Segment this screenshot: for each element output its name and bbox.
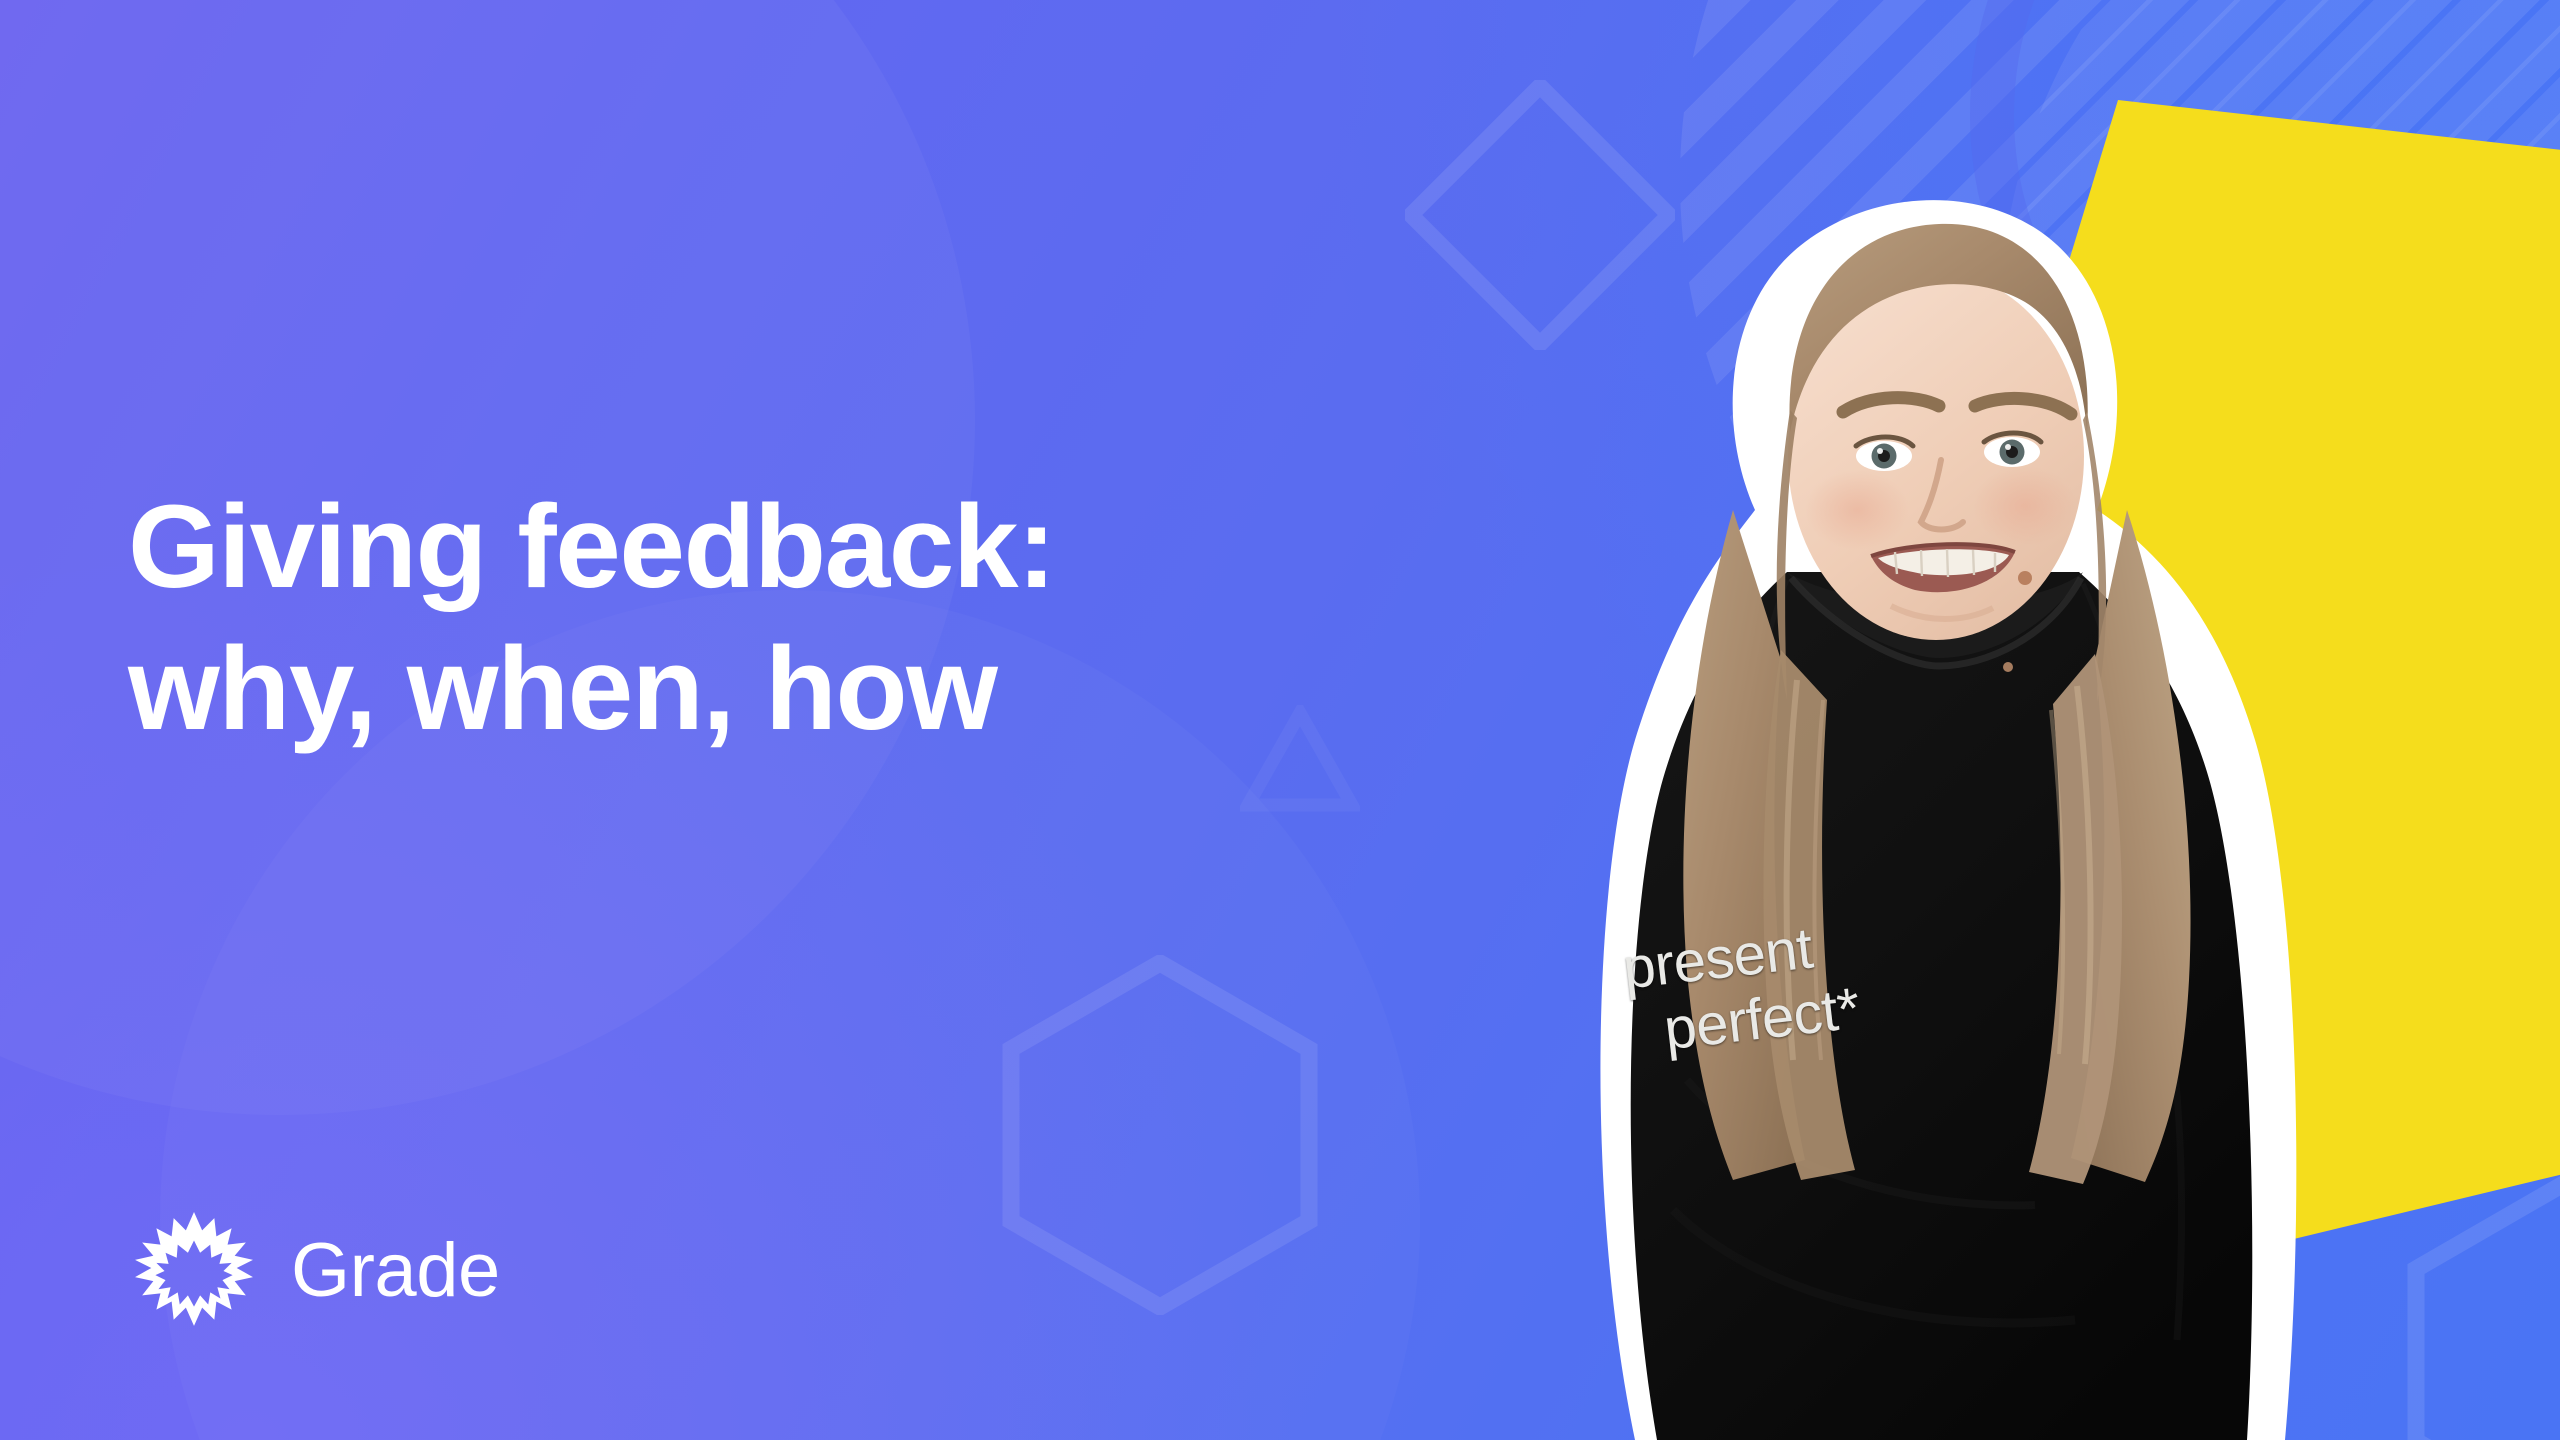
slide-canvas: present perfect* Giving feedback: why, w… [0, 0, 2560, 1440]
brand-logo-lockup[interactable]: Grade [133, 1210, 500, 1332]
starburst-logo-icon [133, 1210, 255, 1332]
portrait-photo [1335, 180, 2325, 1440]
brand-name: Grade [291, 1233, 500, 1309]
page-title: Giving feedback: why, when, how [128, 477, 1428, 760]
hexagon-outline-shape [995, 955, 1325, 1315]
